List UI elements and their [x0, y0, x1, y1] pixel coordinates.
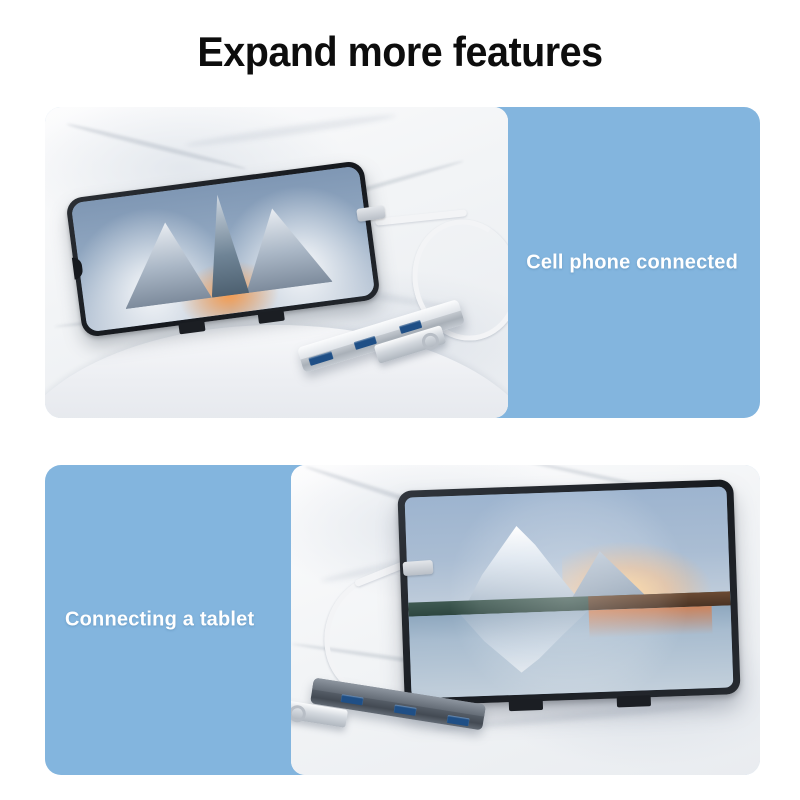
wallpaper-peak	[236, 202, 333, 293]
panel-label-phone: Cell phone connected	[526, 251, 738, 274]
feature-panel-tablet: Connecting a tablet	[45, 465, 760, 775]
tablet-stand-foot	[617, 695, 651, 707]
flash-drive-keyring-hole	[291, 704, 307, 723]
page-title: Expand more features	[24, 28, 776, 76]
tablet	[397, 479, 740, 706]
usb-c-connector-tablet	[403, 560, 434, 576]
tablet-screen	[405, 486, 734, 698]
tablet-body	[397, 479, 740, 706]
panel-label-tablet: Connecting a tablet	[65, 609, 254, 632]
wallpaper-peak	[199, 192, 250, 297]
tablet-scene-photo	[291, 465, 760, 775]
wallpaper-warm-reflection	[589, 606, 712, 638]
feature-panel-phone: Cell phone connected	[45, 107, 760, 418]
phone-scene-photo	[45, 107, 508, 418]
tablet-stand-foot	[509, 699, 543, 711]
wallpaper-peak	[115, 218, 212, 309]
